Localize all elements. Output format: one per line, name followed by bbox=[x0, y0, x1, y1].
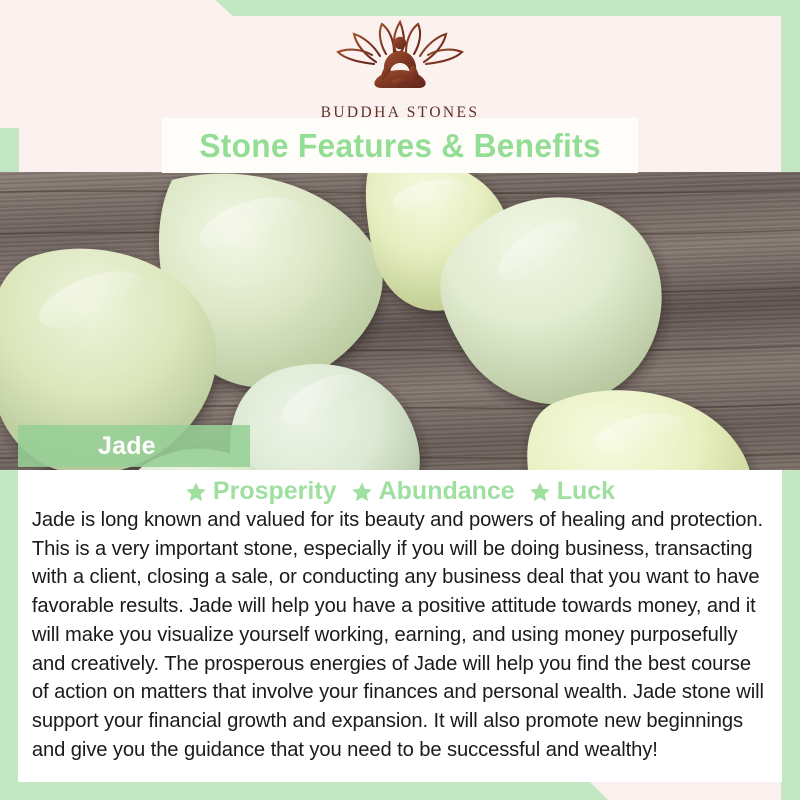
keyword-label: Luck bbox=[557, 477, 615, 506]
stone-name-band: Jade bbox=[18, 425, 250, 467]
star-icon bbox=[529, 481, 551, 503]
keyword-luck: Luck bbox=[529, 477, 615, 506]
keyword-label: Abundance bbox=[379, 477, 515, 506]
keyword-label: Prosperity bbox=[213, 477, 337, 506]
lotus-meditation-figure-icon bbox=[330, 18, 470, 100]
keyword-list: Prosperity Abundance Luck bbox=[18, 470, 782, 506]
brand-logo-block: BUDDHA STONES bbox=[0, 18, 800, 122]
top-green-accent bbox=[215, 0, 800, 16]
star-icon bbox=[351, 481, 373, 503]
keyword-abundance: Abundance bbox=[351, 477, 515, 506]
star-icon bbox=[185, 481, 207, 503]
content-panel: Prosperity Abundance Luck Jade is long k… bbox=[18, 470, 782, 782]
left-upper-green-tab bbox=[0, 128, 19, 172]
stone-name: Jade bbox=[98, 432, 156, 461]
bottom-green-accent bbox=[0, 780, 608, 800]
keyword-prosperity: Prosperity bbox=[185, 477, 337, 506]
page-title: Stone Features & Benefits bbox=[199, 127, 601, 165]
stone-description: Jade is long known and valued for its be… bbox=[18, 506, 778, 764]
title-band: Stone Features & Benefits bbox=[162, 118, 638, 173]
